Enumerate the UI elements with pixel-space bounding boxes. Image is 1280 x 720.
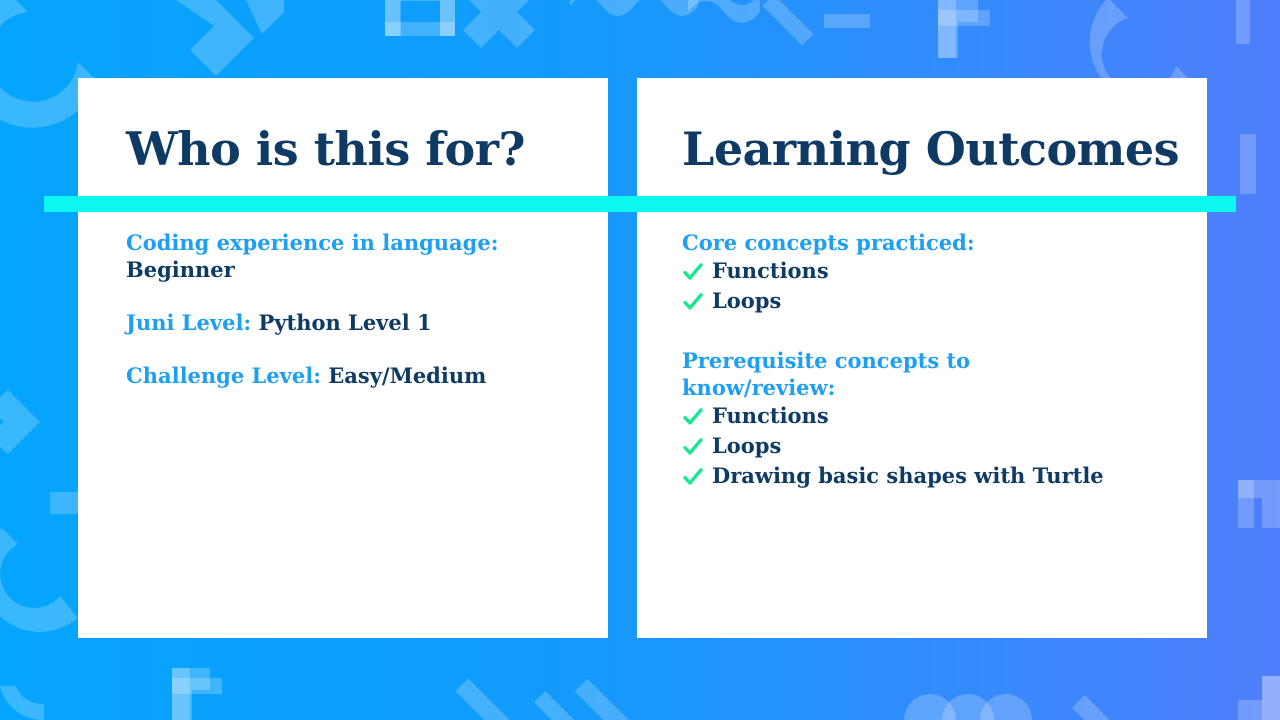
bar-shape	[824, 14, 870, 28]
list-item: Loops	[682, 288, 1183, 315]
coding-experience-label: Coding experience in language:	[126, 230, 498, 255]
list-item-label: Loops	[712, 288, 781, 315]
list-item-label: Functions	[712, 258, 829, 285]
check-icon	[682, 288, 704, 315]
right-card-body: Core concepts practiced: Functions Loops	[682, 230, 1183, 493]
list-item: Juni Level: Python Level 1	[126, 310, 584, 337]
accent-divider-bar	[44, 196, 1236, 212]
list-item-label: Drawing basic shapes with Turtle	[712, 463, 1104, 490]
list-item: Functions	[682, 403, 1183, 430]
page-title-right: Learning Outcomes	[682, 126, 1179, 172]
check-icon	[682, 403, 704, 430]
bar-shape	[1240, 134, 1256, 194]
challenge-level-label: Challenge Level:	[126, 363, 321, 388]
l-shape	[938, 10, 990, 26]
list-item: Functions	[682, 258, 1183, 285]
divider-spacer	[682, 318, 1183, 348]
who-is-this-for-card: Who is this for? Coding experience in la…	[78, 78, 608, 638]
challenge-level-value: Easy/Medium	[328, 363, 486, 388]
l-shape	[172, 678, 222, 694]
list-item-label: Loops	[712, 433, 781, 460]
prerequisite-concepts-heading: Prerequisite concepts to know/review:	[682, 348, 1012, 402]
prerequisite-concepts-list: Functions Loops Drawing basic shapes wit…	[682, 403, 1183, 490]
check-icon	[682, 258, 704, 285]
outcome-group: Prerequisite concepts to know/review: Fu…	[682, 348, 1183, 490]
coding-experience-value: Beginner	[126, 257, 235, 282]
square-outline-shape	[1238, 480, 1254, 528]
bar-shape	[1236, 0, 1250, 44]
list-item-label: Functions	[712, 403, 829, 430]
list-item: Drawing basic shapes with Turtle	[682, 463, 1183, 490]
left-card-body: Coding experience in language: Beginner …	[126, 230, 584, 416]
juni-level-value: Python Level 1	[259, 310, 432, 335]
check-icon	[682, 433, 704, 460]
square-outline-shape	[385, 22, 455, 36]
juni-level-label: Juni Level:	[126, 310, 251, 335]
list-item: Loops	[682, 433, 1183, 460]
learning-outcomes-card: Learning Outcomes Core concepts practice…	[637, 78, 1207, 638]
l-shape	[1262, 676, 1280, 720]
list-item: Challenge Level: Easy/Medium	[126, 363, 584, 390]
outcome-group: Core concepts practiced: Functions Loops	[682, 230, 1183, 315]
core-concepts-heading: Core concepts practiced:	[682, 230, 1183, 257]
core-concepts-list: Functions Loops	[682, 258, 1183, 315]
page-title-left: Who is this for?	[126, 126, 525, 172]
l-shape	[938, 0, 956, 58]
list-item: Coding experience in language: Beginner	[126, 230, 584, 284]
check-icon	[682, 463, 704, 490]
